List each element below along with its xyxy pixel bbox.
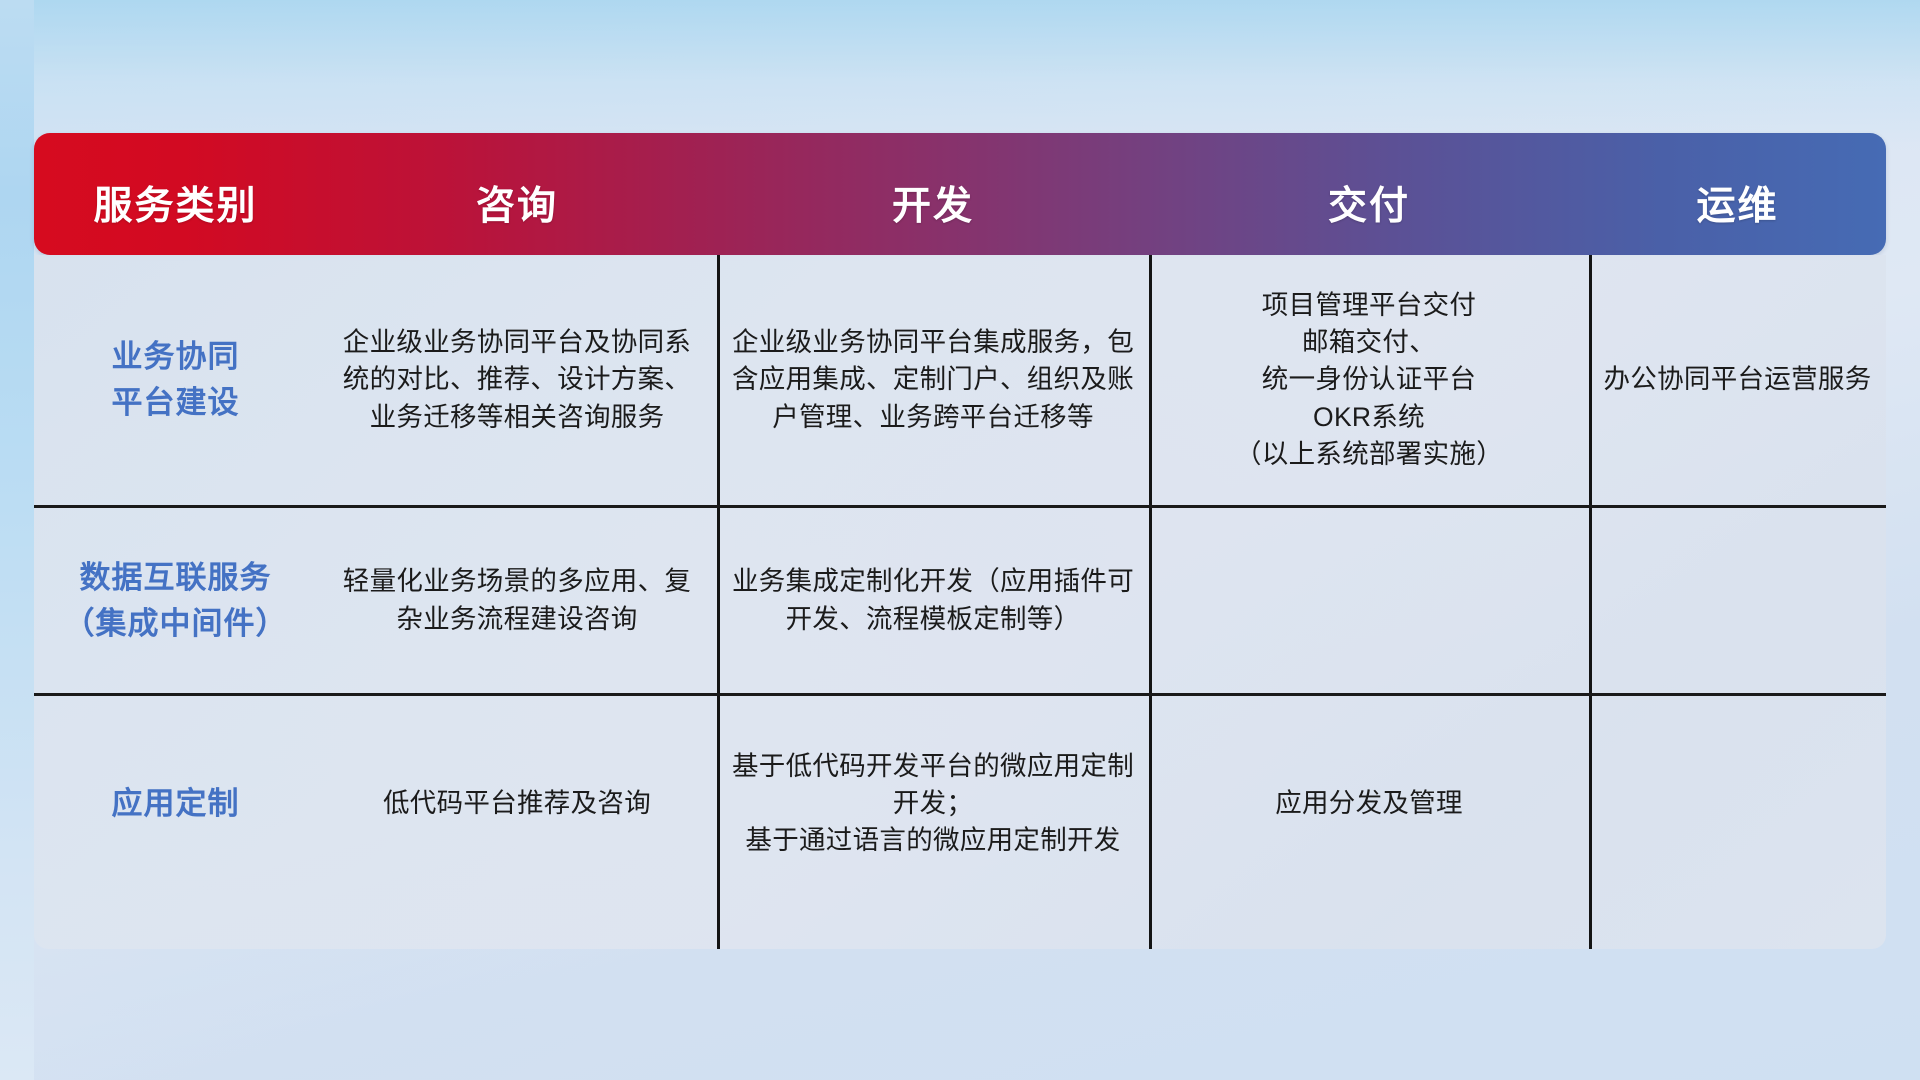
cell-consulting: 低代码平台推荐及咨询 (317, 696, 717, 911)
row-category-label: 数据互联服务 （集成中间件） (34, 508, 317, 693)
table-grid-tail (34, 911, 1886, 949)
column-header-development: 开发 (717, 175, 1149, 255)
cell-development: 基于低代码开发平台的微应用定制开发； 基于通过语言的微应用定制开发 (717, 696, 1149, 911)
row-category-label: 业务协同 平台建设 (34, 255, 317, 505)
cell-delivery: 项目管理平台交付 邮箱交付、 统一身份认证平台 OKR系统 （以上系统部署实施） (1149, 255, 1589, 505)
column-header-category: 服务类别 (34, 175, 317, 255)
cell-delivery: 应用分发及管理 (1149, 696, 1589, 911)
column-header-delivery: 交付 (1149, 175, 1589, 255)
table-row: 应用定制 低代码平台推荐及咨询 基于低代码开发平台的微应用定制开发； 基于通过语… (34, 693, 1886, 911)
cell-consulting: 轻量化业务场景的多应用、复杂业务流程建设咨询 (317, 508, 717, 693)
row-category-line-2: 平台建设 (112, 385, 240, 420)
row-category-line-1: 业务协同 (112, 339, 240, 374)
cell-development: 企业级业务协同平台集成服务，包含应用集成、定制门户、组织及账户管理、业务跨平台迁… (717, 255, 1149, 505)
cell-operations (1589, 508, 1886, 693)
cell-delivery (1149, 508, 1589, 693)
table-body: 业务协同 平台建设 企业级业务协同平台及协同系统的对比、推荐、设计方案、业务迁移… (34, 255, 1886, 949)
column-header-operations: 运维 (1589, 175, 1886, 255)
row-category-line-1: 数据互联服务 (80, 560, 272, 595)
cell-operations (1589, 696, 1886, 911)
row-category-line-2: （集成中间件） (64, 606, 288, 641)
cell-development: 业务集成定制化开发（应用插件可开发、流程模板定制等） (717, 508, 1149, 693)
row-category-label: 应用定制 (34, 696, 317, 911)
cell-consulting: 企业级业务协同平台及协同系统的对比、推荐、设计方案、业务迁移等相关咨询服务 (317, 255, 717, 505)
column-header-consulting: 咨询 (317, 175, 717, 255)
cell-operations: 办公协同平台运营服务 (1589, 255, 1886, 505)
background-left-edge (0, 0, 34, 1080)
service-matrix-table: 服务类别 咨询 开发 交付 运维 业务协同 平台建设 企业级业务协同平台及协同系… (34, 133, 1886, 949)
table-row: 数据互联服务 （集成中间件） 轻量化业务场景的多应用、复杂业务流程建设咨询 业务… (34, 505, 1886, 693)
table-header-row: 服务类别 咨询 开发 交付 运维 (34, 133, 1886, 255)
table-row: 业务协同 平台建设 企业级业务协同平台及协同系统的对比、推荐、设计方案、业务迁移… (34, 255, 1886, 505)
background-top-glow (0, 0, 1920, 150)
